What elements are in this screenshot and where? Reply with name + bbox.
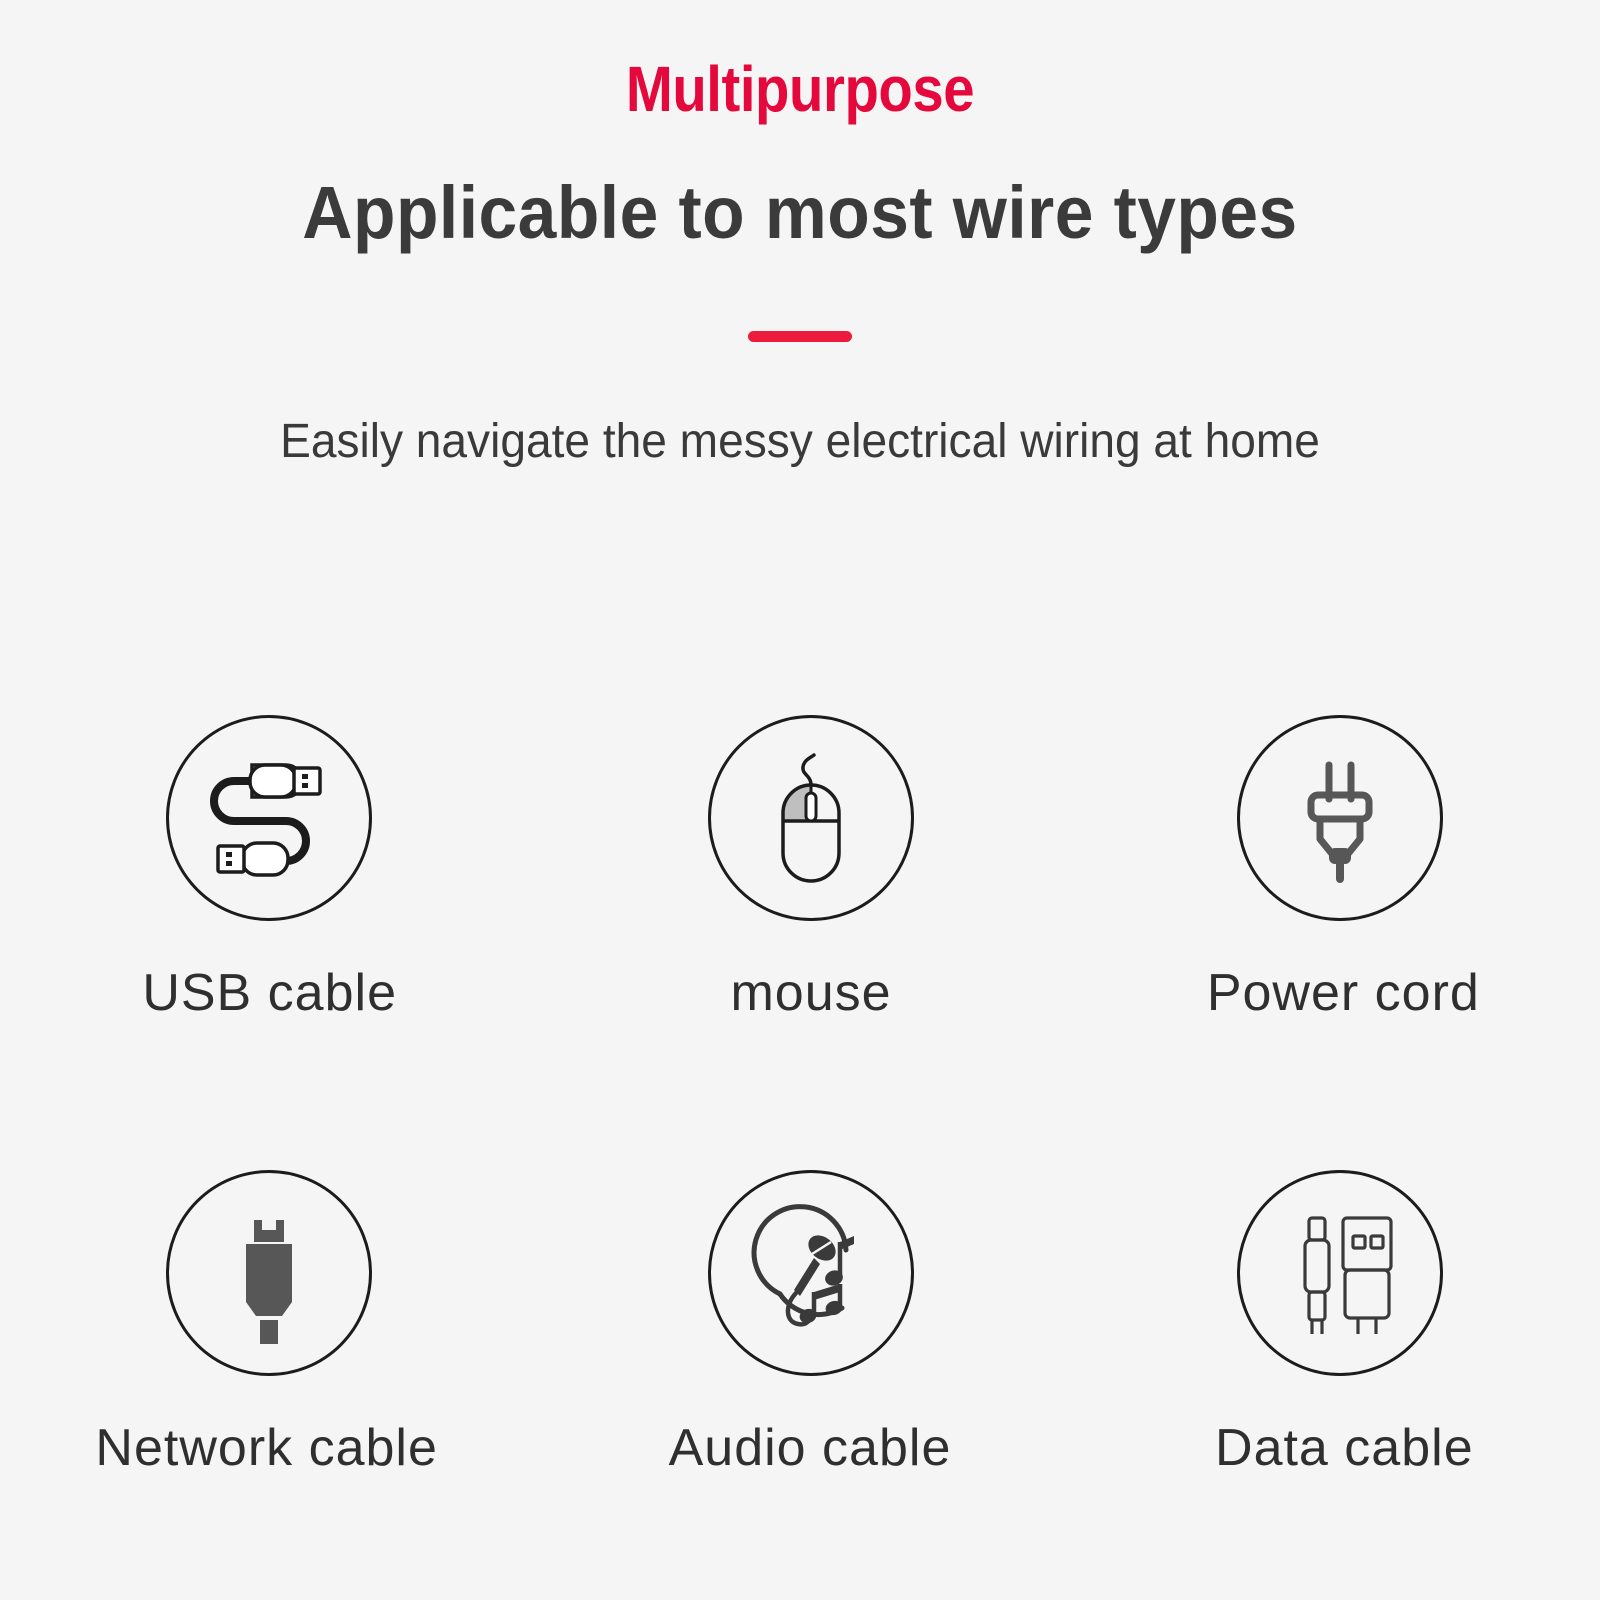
icon-row-1: USB cable mouse <box>0 715 1600 1045</box>
feature-power-cord: Power cord <box>1067 715 1600 1045</box>
icon-circle-audio <box>708 1170 914 1376</box>
feature-label-mouse: mouse <box>730 963 891 1023</box>
icon-circle-mouse <box>708 715 914 921</box>
feature-label-data-cable: Data cable <box>1215 1418 1474 1478</box>
feature-label-audio-cable: Audio cable <box>669 1418 952 1478</box>
icon-row-2: Network cable <box>0 1170 1600 1500</box>
usb-cable-icon <box>194 743 344 893</box>
red-divider <box>748 331 852 342</box>
page-description: Easily navigate the messy electrical wir… <box>32 414 1568 470</box>
eyebrow-title: Multipurpose <box>96 52 1504 126</box>
icon-circle-network <box>166 1170 372 1376</box>
divider-wrapper <box>0 330 1600 342</box>
computer-mouse-icon <box>736 743 886 893</box>
icon-circle-power <box>1237 715 1443 921</box>
promo-page: Multipurpose Applicable to most wire typ… <box>0 0 1600 1600</box>
feature-mouse: mouse <box>533 715 1066 1045</box>
microphone-music-icon <box>736 1198 886 1348</box>
power-plug-icon <box>1265 743 1415 893</box>
icon-circle-usb <box>166 715 372 921</box>
feature-label-network-cable: Network cable <box>95 1418 437 1478</box>
data-connectors-icon <box>1265 1198 1415 1348</box>
feature-network-cable: Network cable <box>0 1170 533 1500</box>
header: Multipurpose Applicable to most wire typ… <box>0 0 1600 470</box>
network-plug-icon <box>194 1198 344 1348</box>
icon-circle-data <box>1237 1170 1443 1376</box>
feature-label-power-cord: Power cord <box>1207 963 1480 1023</box>
feature-audio-cable: Audio cable <box>533 1170 1066 1500</box>
feature-data-cable: Data cable <box>1067 1170 1600 1500</box>
feature-label-usb-cable: USB cable <box>142 963 397 1023</box>
page-title: Applicable to most wire types <box>48 170 1552 256</box>
feature-usb-cable: USB cable <box>0 715 533 1045</box>
